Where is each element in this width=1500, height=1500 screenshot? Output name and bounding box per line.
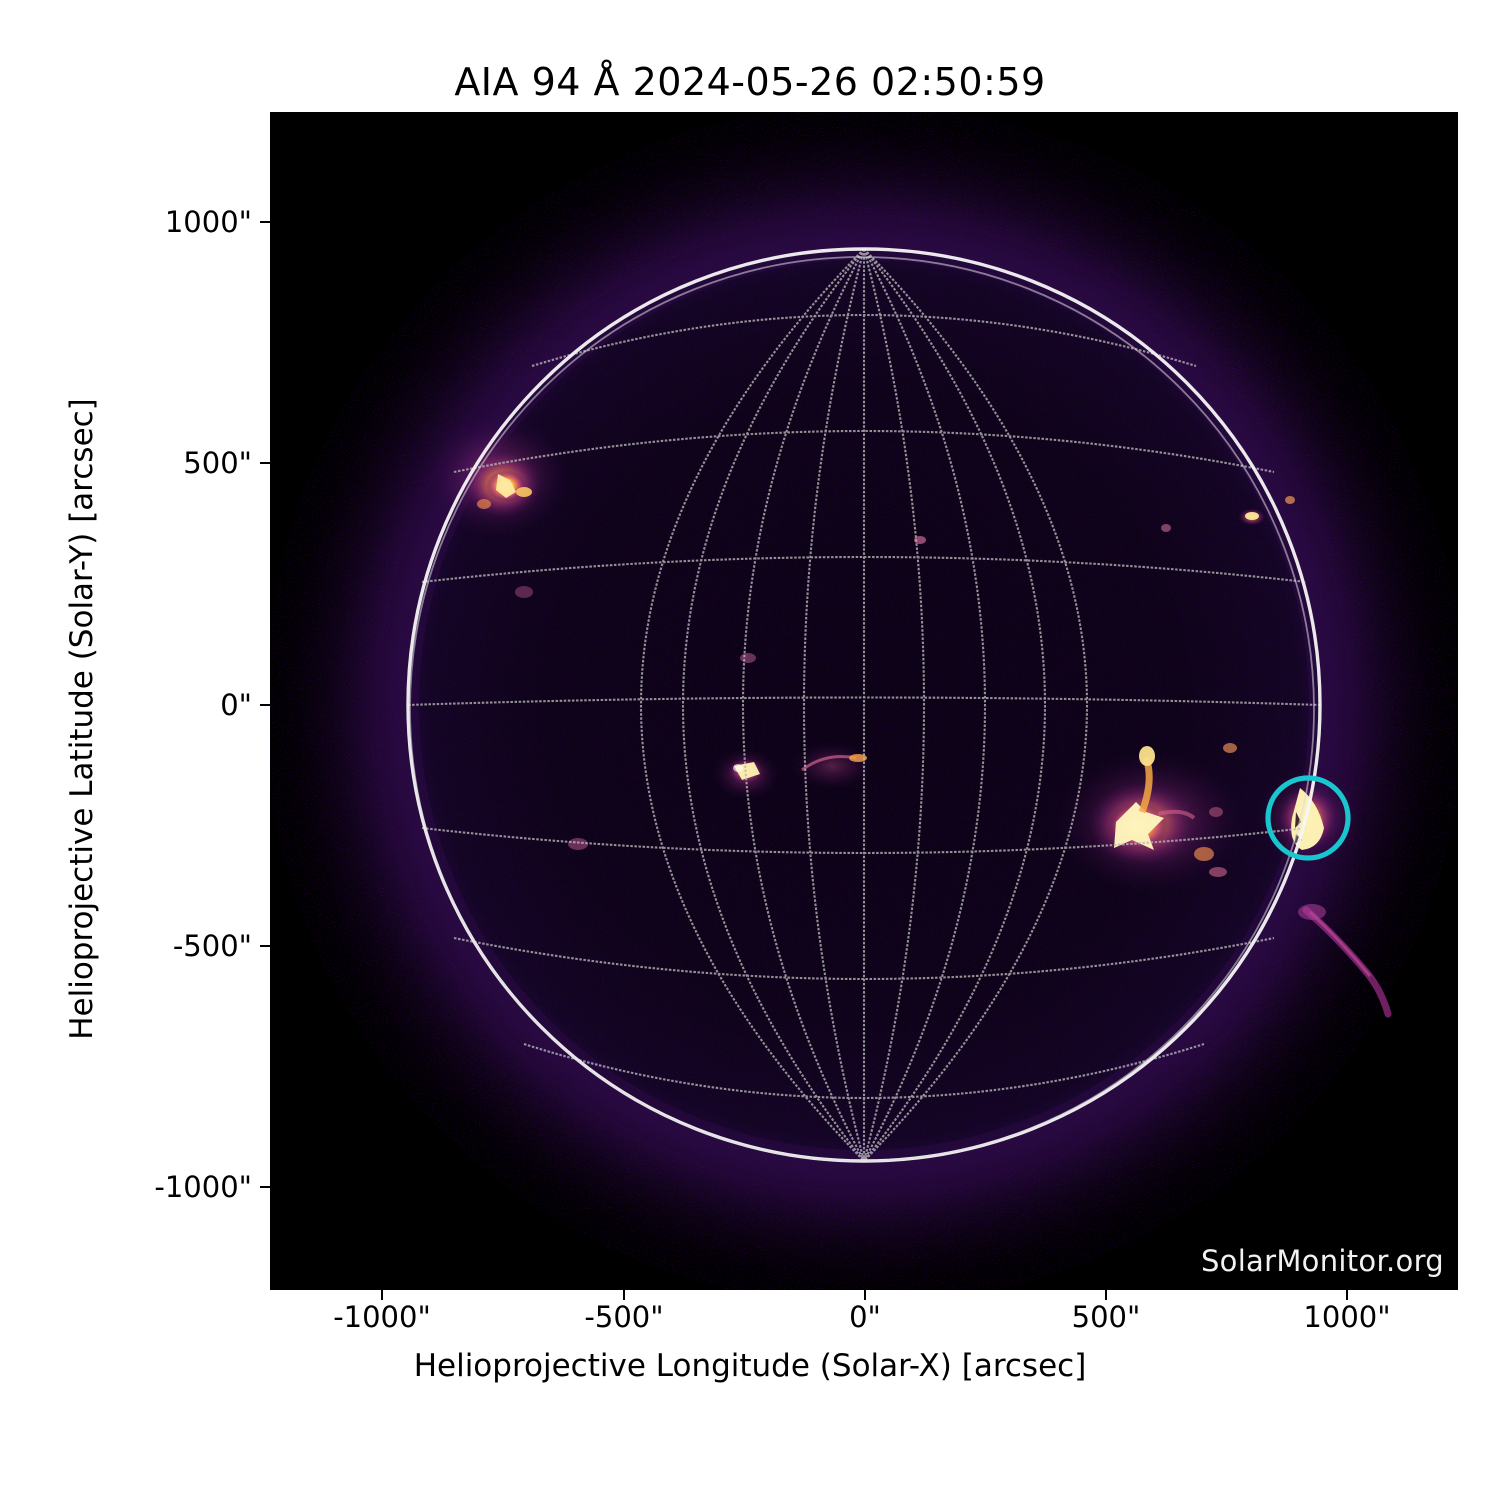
solar-image-figure: AIA 94 Å 2024-05-26 02:50:59 1000" 500" … <box>0 0 1500 1500</box>
xtick-label-500: 500" <box>1072 1300 1141 1334</box>
ytick-label-1000: 1000" <box>165 205 252 239</box>
ytick-mark-minus1000 <box>260 1186 270 1188</box>
solar-image-plot-area[interactable]: SolarMonitor.org <box>270 112 1458 1290</box>
xtick-mark-1000 <box>1346 1290 1348 1300</box>
ytick-mark-1000 <box>260 221 270 223</box>
xtick-mark-minus500 <box>623 1290 625 1300</box>
ytick-mark-minus500 <box>260 945 270 947</box>
watermark-label: SolarMonitor.org <box>1201 1244 1444 1278</box>
y-axis-label: Helioprojective Latitude (Solar-Y) [arcs… <box>64 219 100 1219</box>
page-title: AIA 94 Å 2024-05-26 02:50:59 <box>0 60 1500 104</box>
xtick-mark-0 <box>864 1290 866 1300</box>
xtick-label-1000: 1000" <box>1303 1300 1390 1334</box>
ytick-label-minus1000: -1000" <box>154 1170 252 1204</box>
ytick-label-0: 0" <box>220 688 252 722</box>
active-region-central-diffuse <box>790 742 874 790</box>
xtick-mark-500 <box>1105 1290 1107 1300</box>
x-axis-label: Helioprojective Longitude (Solar-X) [arc… <box>0 1348 1500 1384</box>
ytick-label-500: 500" <box>183 446 252 480</box>
ytick-label-minus500: -500" <box>173 929 252 963</box>
xtick-label-minus500: -500" <box>584 1300 663 1334</box>
xtick-label-0: 0" <box>849 1300 881 1334</box>
ytick-mark-0 <box>260 704 270 706</box>
solar-disk-image <box>270 112 1458 1290</box>
xtick-label-minus1000: -1000" <box>333 1300 431 1334</box>
ytick-mark-500 <box>260 462 270 464</box>
xtick-mark-minus1000 <box>381 1290 383 1300</box>
